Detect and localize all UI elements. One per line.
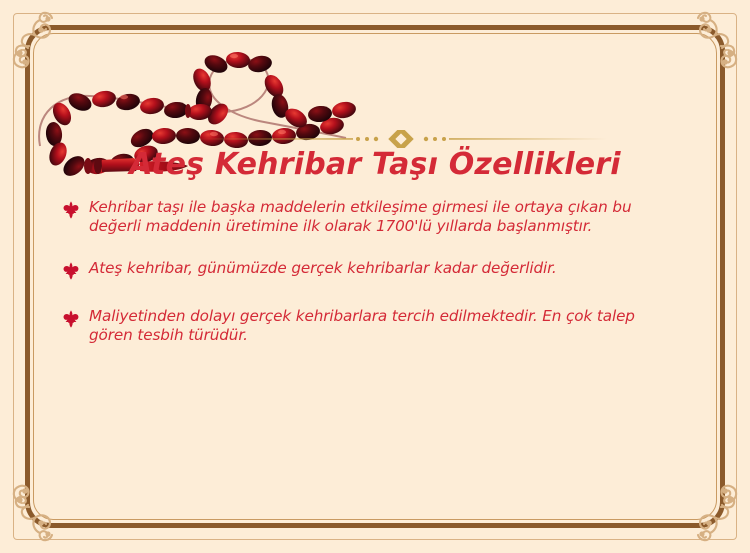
features-list: Kehribar taşı ile başka maddelerin etkil… — [62, 198, 672, 368]
list-item: Kehribar taşı ile başka maddelerin etkil… — [62, 198, 672, 237]
corner-scroll-ornament-top-right — [666, 6, 744, 84]
corner-scroll-ornament-bottom-right — [666, 469, 744, 547]
info-card: Ateş Kehribar Taşı Özellikleri Kehribar … — [0, 0, 750, 553]
list-item: Maliyetinden dolayı gerçek kehribarlara … — [62, 307, 672, 346]
fleur-de-lis-bullet-icon — [62, 261, 80, 281]
corner-scroll-ornament-bottom-left — [6, 469, 84, 547]
list-item-text: Kehribar taşı ile başka maddelerin etkil… — [89, 198, 672, 237]
fleur-de-lis-bullet-icon — [62, 309, 80, 329]
list-item: Ateş kehribar, günümüzde gerçek kehribar… — [62, 259, 672, 281]
diamond-ornament-divider — [195, 130, 607, 148]
corner-scroll-ornament-top-left — [6, 6, 84, 84]
page-title: Ateş Kehribar Taşı Özellikleri — [0, 147, 750, 182]
list-item-text: Maliyetinden dolayı gerçek kehribarlara … — [89, 307, 672, 346]
list-item-text: Ateş kehribar, günümüzde gerçek kehribar… — [89, 259, 672, 278]
fleur-de-lis-bullet-icon — [62, 200, 80, 220]
